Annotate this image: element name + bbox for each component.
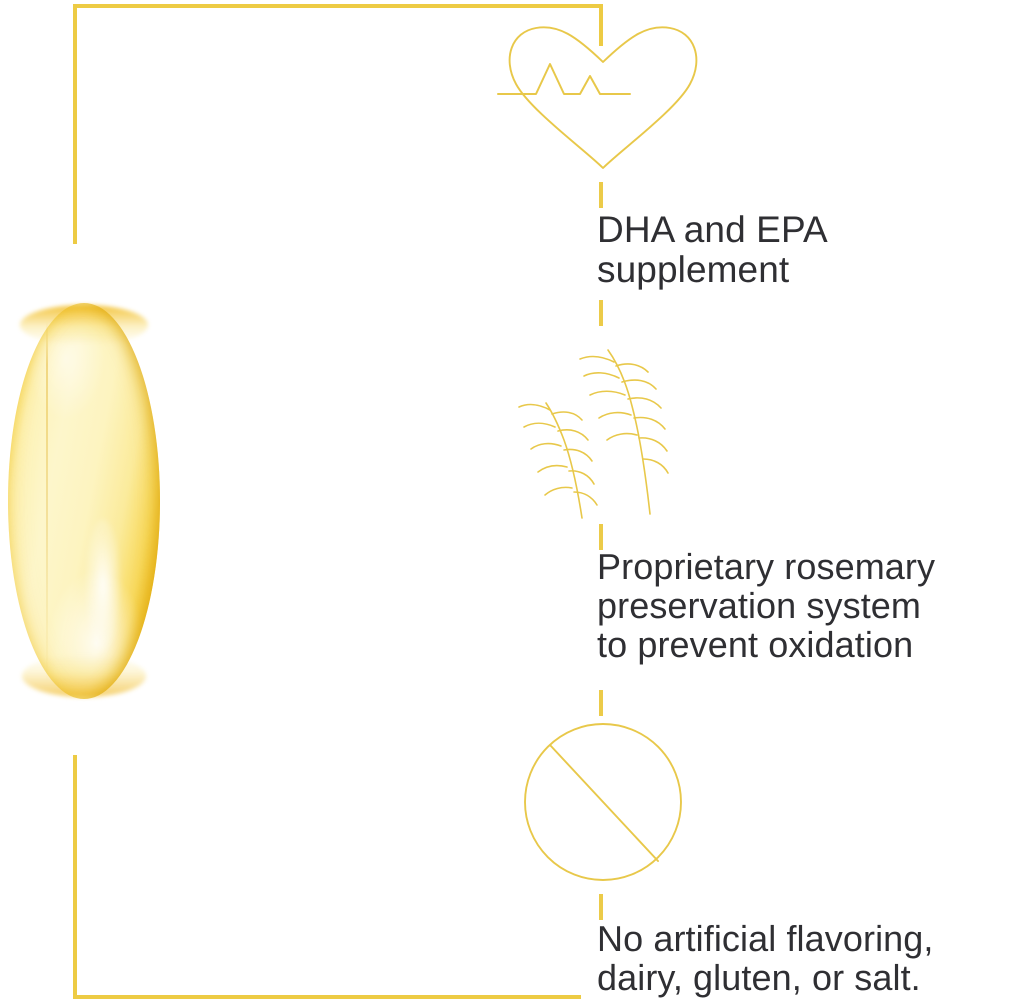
prohibited-circle-icon [490,722,716,894]
connector-dash-text-to-prohibited [599,690,603,716]
frame-bottom-line [73,995,581,999]
connector-dash-heart-to-text [599,182,603,208]
feature-text-rosemary-preservation: Proprietary rosemary preservation system… [597,548,1024,665]
connector-dash-text-to-rosemary [599,300,603,326]
frame-left-lower-line [73,755,77,999]
product-capsule-image [2,303,168,701]
frame-top-line [73,4,603,8]
feature-text-dha-epa: DHA and EPA supplement [597,210,1024,290]
frame-left-upper-line [73,4,77,244]
rosemary-sprig-icon [490,328,716,520]
capsule-edge-rim [8,303,160,699]
infographic-canvas: DHA and EPA supplement [0,0,1024,1004]
heart-heartbeat-icon [490,18,716,178]
feature-text-no-artificial: No artificial flavoring, dairy, gluten, … [597,920,1024,998]
connector-dash-prohibited-to-text [599,894,603,920]
